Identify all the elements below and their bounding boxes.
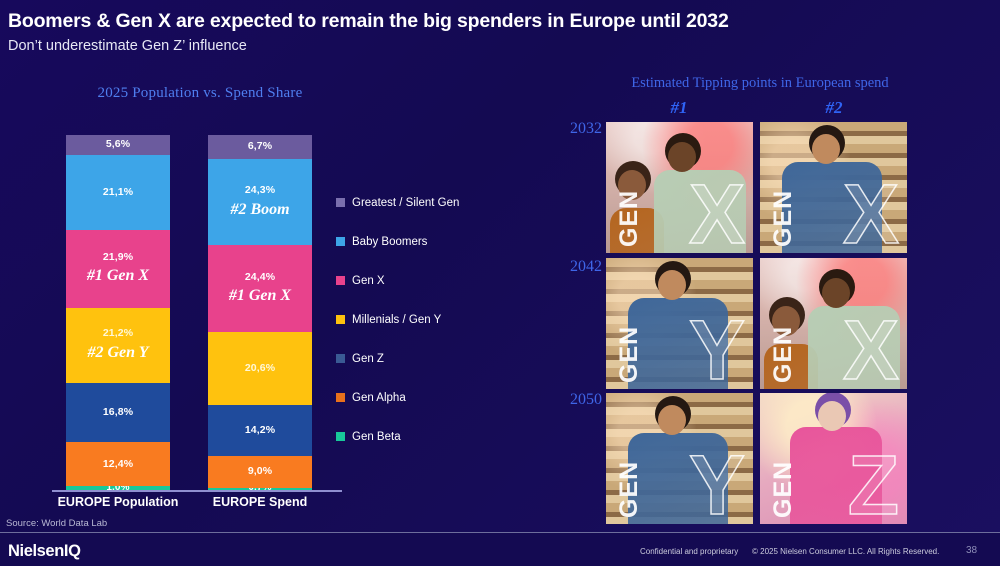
segment-rank-label: #2 Gen Y — [87, 344, 148, 362]
legend-label: Gen X — [352, 275, 385, 287]
legend-item[interactable]: Baby Boomers — [336, 222, 511, 261]
year-label-2042: 2042 — [546, 258, 602, 276]
legend-label: Gen Beta — [352, 431, 401, 443]
bar-segment: 24,4%#1 Gen X — [208, 245, 312, 332]
person-body — [654, 170, 746, 253]
legend-swatch-icon — [336, 276, 345, 285]
slide: Boomers & Gen X are expected to remain t… — [0, 0, 1000, 566]
tile-photo — [760, 122, 907, 253]
column-header-2: #2 — [794, 98, 874, 118]
footer-confidential: Confidential and proprietary — [640, 547, 738, 556]
bar-europe-spend: 6,7%24,3%#2 Boom24,4%#1 Gen X20,6%14,2%9… — [208, 135, 312, 490]
segment-value: 24,3% — [245, 185, 275, 197]
legend-label: Greatest / Silent Gen — [352, 197, 459, 209]
tile-photo — [760, 258, 907, 389]
nielseniq-logo: NielsenIQ — [8, 542, 81, 561]
generation-photo-tile[interactable]: GENX — [606, 122, 753, 253]
person-body — [628, 298, 728, 389]
legend-swatch-icon — [336, 432, 345, 441]
segment-value: 9,0% — [248, 466, 272, 478]
legend-swatch-icon — [336, 393, 345, 402]
legend-item[interactable]: Gen Beta — [336, 417, 511, 456]
generation-photo-tile[interactable]: GENY — [606, 258, 753, 389]
bar-segment: 6,7% — [208, 135, 312, 159]
person-body — [808, 306, 900, 389]
generation-photo-tile[interactable]: GENX — [760, 122, 907, 253]
legend-swatch-icon — [336, 237, 345, 246]
year-label-2050: 2050 — [546, 391, 602, 409]
person-head — [658, 270, 686, 300]
person-body — [782, 162, 882, 253]
segment-value: 12,4% — [103, 459, 133, 471]
segment-rank-label: #1 Gen X — [229, 287, 291, 305]
bar-segment: 5,6% — [66, 135, 170, 155]
bar-segment: 21,9%#1 Gen X — [66, 230, 170, 308]
bar-segment: 14,2% — [208, 405, 312, 455]
legend-label: Baby Boomers — [352, 236, 427, 248]
column-header-1: #1 — [639, 98, 719, 118]
generation-photo-tile[interactable]: GENX — [760, 258, 907, 389]
chart-legend: Greatest / Silent GenBaby BoomersGen XMi… — [336, 183, 511, 456]
person-body — [628, 433, 728, 524]
person-head — [658, 405, 686, 435]
bar-europe-population: 5,6%21,1%21,9%#1 Gen X21,2%#2 Gen Y16,8%… — [66, 135, 170, 490]
generation-photo-tile[interactable]: GENZ — [760, 393, 907, 524]
legend-label: Gen Alpha — [352, 392, 406, 404]
axis-label-spend: EUROPE Spend — [180, 495, 340, 509]
segment-value: 6,7% — [248, 141, 272, 153]
bar-segment: 9,0% — [208, 456, 312, 488]
year-label-2032: 2032 — [546, 120, 602, 138]
bar-segment: 24,3%#2 Boom — [208, 159, 312, 245]
segment-value: 20,6% — [245, 363, 275, 375]
legend-item[interactable]: Gen X — [336, 261, 511, 300]
person-head — [818, 401, 846, 431]
person-body — [790, 427, 882, 524]
person-head — [618, 170, 646, 200]
person-head — [772, 306, 800, 336]
legend-swatch-icon — [336, 315, 345, 324]
footer-page-number: 38 — [966, 545, 977, 556]
legend-label: Gen Z — [352, 353, 384, 365]
segment-rank-label: #1 Gen X — [87, 267, 149, 285]
segment-value: 5,6% — [106, 139, 130, 151]
axis-label-population: EUROPE Population — [38, 495, 198, 509]
generation-photo-tile[interactable]: GENY — [606, 393, 753, 524]
segment-value: 21,2% — [103, 328, 133, 340]
segment-value: 14,2% — [245, 425, 275, 437]
source-note: Source: World Data Lab — [6, 518, 107, 529]
legend-item[interactable]: Gen Alpha — [336, 378, 511, 417]
bar-segment: 21,1% — [66, 155, 170, 230]
segment-value: 24,4% — [245, 272, 275, 284]
axis-baseline — [52, 490, 342, 492]
segment-rank-label: #2 Boom — [230, 201, 289, 219]
segment-value: 21,9% — [103, 252, 133, 264]
segment-value: 16,8% — [103, 407, 133, 419]
legend-item[interactable]: Greatest / Silent Gen — [336, 183, 511, 222]
legend-item[interactable]: Millenials / Gen Y — [336, 300, 511, 339]
person-head — [822, 278, 850, 308]
footer-copyright: © 2025 Nielsen Consumer LLC. All Rights … — [752, 547, 939, 556]
bar-segment: 12,4% — [66, 442, 170, 486]
segment-value: 21,1% — [103, 187, 133, 199]
tile-photo — [760, 393, 907, 524]
legend-swatch-icon — [336, 354, 345, 363]
legend-label: Millenials / Gen Y — [352, 314, 441, 326]
tile-photo — [606, 258, 753, 389]
legend-item[interactable]: Gen Z — [336, 339, 511, 378]
bar-segment: 20,6% — [208, 332, 312, 405]
person-head — [668, 142, 696, 172]
legend-swatch-icon — [336, 198, 345, 207]
bar-segment: 21,2%#2 Gen Y — [66, 308, 170, 383]
tile-photo — [606, 122, 753, 253]
person-head — [812, 134, 840, 164]
right-panel-title: Estimated Tipping points in European spe… — [560, 75, 960, 92]
bar-segment: 16,8% — [66, 383, 170, 443]
tile-photo — [606, 393, 753, 524]
